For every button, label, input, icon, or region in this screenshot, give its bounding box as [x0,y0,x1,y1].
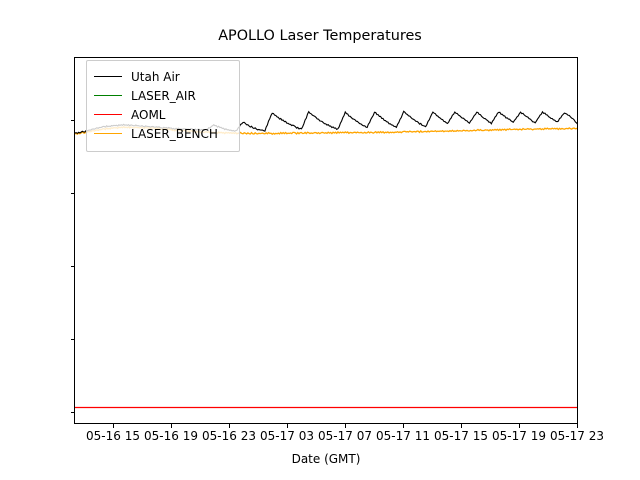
x-tick-mark [171,424,172,428]
legend-item-utah-air: Utah Air [94,67,232,86]
legend-label: LASER_AIR [131,89,196,103]
x-axis-label: Date (GMT) [74,452,578,466]
legend-item-laser-air: LASER_AIR [94,86,232,105]
x-tick-mark [113,424,114,428]
x-tick-mark [403,424,404,428]
x-tick-mark [577,424,578,428]
legend-label: LASER_BENCH [131,127,218,141]
x-tick-mark [519,424,520,428]
chart-legend: Utah Air LASER_AIR AOML LASER_BENCH [86,60,240,152]
legend-swatch-aoml [94,114,122,115]
chart-figure: APOLLO Laser Temperatures Temperature (C… [0,0,640,480]
legend-swatch-laser-bench [94,133,122,134]
x-tick-mark [461,424,462,428]
legend-label: AOML [131,108,165,122]
x-tick-label: 05-17 23 [532,430,622,443]
legend-label: Utah Air [131,70,180,84]
chart-title: APOLLO Laser Temperatures [0,28,640,44]
legend-swatch-utah-air [94,76,122,77]
legend-swatch-laser-air [94,95,122,96]
legend-item-laser-bench: LASER_BENCH [94,124,232,143]
x-tick-mark [345,424,346,428]
x-tick-mark [229,424,230,428]
x-tick-mark [287,424,288,428]
legend-item-aoml: AOML [94,105,232,124]
